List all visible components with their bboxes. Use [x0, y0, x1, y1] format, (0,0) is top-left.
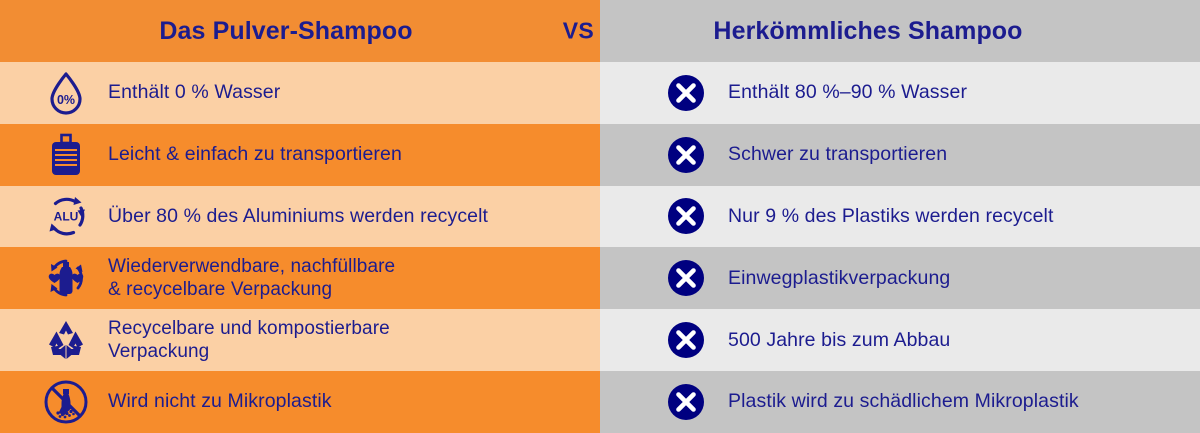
table-row: Leicht & einfach zu transportieren Schwe…	[0, 124, 1200, 186]
x-circle-icon	[660, 190, 712, 242]
svg-text:0%: 0%	[57, 93, 75, 107]
row-cell-left: 0% Enthält 0 % Wasser	[0, 62, 600, 124]
x-circle-icon	[660, 67, 712, 119]
recycle-triangle-icon	[40, 314, 92, 366]
row-cell-left: Wiederverwendbare, nachfüllbare & recyce…	[0, 247, 600, 309]
row-label-right: Nur 9 % des Plastiks werden recycelt	[728, 205, 1053, 228]
x-circle-icon	[660, 252, 712, 304]
row-label-right: Plastik wird zu schädlichem Mikroplastik	[728, 390, 1079, 413]
row-cell-right: Nur 9 % des Plastiks werden recycelt	[600, 186, 1200, 248]
aluminium-recycling-icon: ALU	[40, 190, 92, 242]
x-circle-icon	[660, 314, 712, 366]
table-row: 0% Enthält 0 % Wasser Enthält 80 %–90 % …	[0, 62, 1200, 124]
row-cell-right: Schwer zu transportieren	[600, 124, 1200, 186]
refillable-bottle-icon	[40, 252, 92, 304]
row-cell-left: Recycelbare und kompostierbare Verpackun…	[0, 309, 600, 371]
svg-text:ALU: ALU	[54, 210, 79, 224]
row-label-left: Über 80 % des Aluminiums werden recycelt	[108, 205, 488, 228]
table-row: ALU Über 80 % des Aluminiums werden recy…	[0, 186, 1200, 248]
vs-label: VS	[563, 18, 594, 45]
header-cell-right: Herkömmliches Shampoo	[600, 0, 1200, 62]
comparison-table: Das Pulver-Shampoo VS Herkömmliches Sham…	[0, 0, 1200, 433]
comparison-title: Herkömmliches Shampoo	[713, 17, 1022, 46]
table-row: Wird nicht zu Mikroplastik Plastik wird …	[0, 371, 1200, 433]
table-row: Recycelbare und kompostierbare Verpackun…	[0, 309, 1200, 371]
row-cell-right: Plastik wird zu schädlichem Mikroplastik	[600, 371, 1200, 433]
row-cell-left: Leicht & einfach zu transportieren	[0, 124, 600, 186]
water-drop-zero-percent-icon: 0%	[40, 67, 92, 119]
row-label-left: Recycelbare und kompostierbare Verpackun…	[108, 317, 390, 363]
row-cell-right: Einwegplastikverpackung	[600, 247, 1200, 309]
row-cell-left: ALU Über 80 % des Aluminiums werden recy…	[0, 186, 600, 248]
row-cell-left: Wird nicht zu Mikroplastik	[0, 371, 600, 433]
row-cell-right: Enthält 80 %–90 % Wasser	[600, 62, 1200, 124]
page-title: Das Pulver-Shampoo	[159, 17, 412, 46]
row-label-left: Wird nicht zu Mikroplastik	[108, 390, 332, 413]
row-label-right: Einwegplastikverpackung	[728, 267, 950, 290]
row-label-right: Schwer zu transportieren	[728, 143, 947, 166]
row-label-left: Wiederverwendbare, nachfüllbare & recyce…	[108, 255, 395, 301]
no-microplastic-icon	[40, 376, 92, 428]
row-label-left: Enthält 0 % Wasser	[108, 81, 280, 104]
table-row: Wiederverwendbare, nachfüllbare & recyce…	[0, 247, 1200, 309]
header-cell-left: Das Pulver-Shampoo VS	[0, 0, 600, 62]
row-label-left: Leicht & einfach zu transportieren	[108, 143, 402, 166]
row-label-right: Enthält 80 %–90 % Wasser	[728, 81, 967, 104]
x-circle-icon	[660, 376, 712, 428]
row-label-right: 500 Jahre bis zum Abbau	[728, 329, 950, 352]
row-cell-right: 500 Jahre bis zum Abbau	[600, 309, 1200, 371]
table-header: Das Pulver-Shampoo VS Herkömmliches Sham…	[0, 0, 1200, 62]
x-circle-icon	[660, 129, 712, 181]
suitcase-icon	[40, 129, 92, 181]
